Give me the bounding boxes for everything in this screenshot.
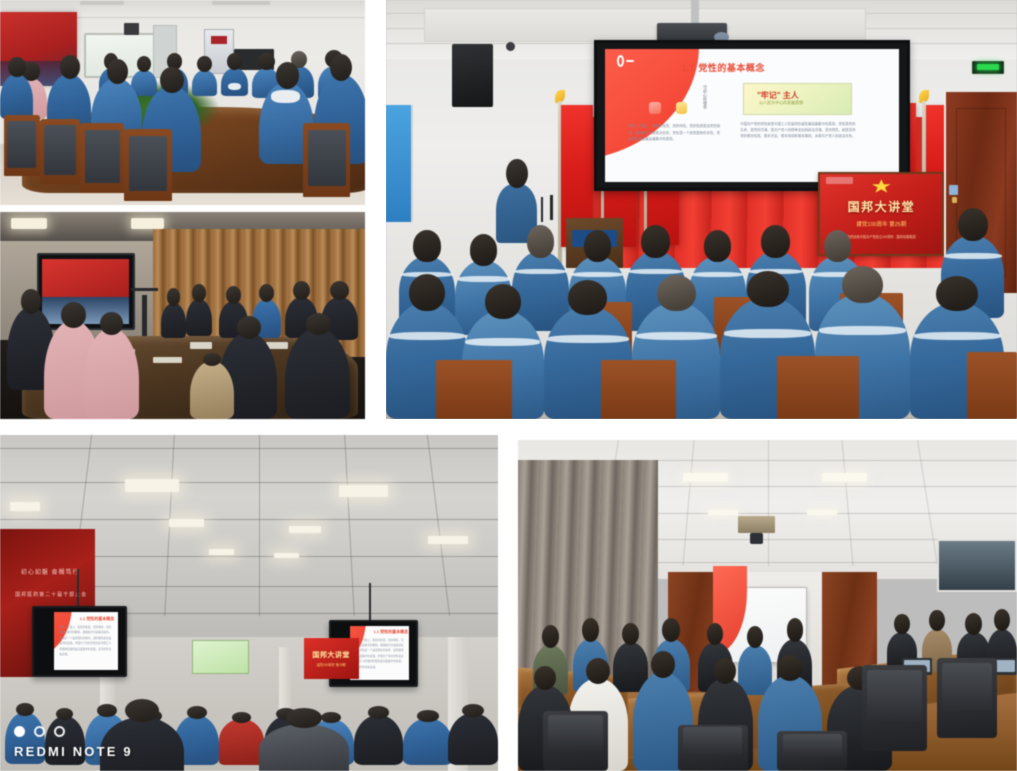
projector-mount (691, 0, 699, 25)
projector-lens (750, 533, 763, 544)
front-projection-screen (192, 640, 249, 674)
projection-screen: 1.1 党性的基本概念 守初心担使命 "牢记" 主人 以人民为中心的发展思想 党… (594, 40, 910, 191)
monitor-slide-body: 党性，字面上，指党的性质、党的特性。党的性质是由党的纲领、路线和方针政策决定的。… (354, 638, 404, 671)
party-emblem-icon (872, 179, 892, 193)
ceiling-light (683, 473, 728, 482)
ceiling-light (807, 510, 837, 516)
ceiling-recess (424, 8, 866, 42)
slide-image-card: "牢记" 主人 以人民为中心的发展思想 (743, 83, 852, 115)
audience-member-foreground (259, 724, 349, 771)
chair (436, 360, 512, 419)
photo-tile-meeting-roundtable[interactable] (0, 0, 365, 205)
banner-subtitle: 建党100周年 第25期 (828, 220, 936, 228)
tv-slide (42, 259, 129, 297)
hanging-monitor: 1.1 党性的基本概念 党性，字面上，指党的性质、党的特性。党的性质是由党的纲领… (32, 606, 127, 677)
ceiling-light (822, 473, 867, 482)
scene-lecture-hall: 1.1 党性的基本概念 守初心担使命 "牢记" 主人 以人民为中心的发展思想 党… (386, 0, 1017, 419)
chair (124, 129, 171, 201)
banner-title: 国邦大讲堂 (828, 198, 936, 215)
person (190, 361, 234, 419)
watermark-brand-text: REDMI NOTE 9 (14, 744, 133, 759)
camera-watermark: REDMI NOTE 9 (14, 726, 133, 759)
ceiling-light (169, 519, 204, 527)
security-camera (506, 42, 515, 51)
ceiling-light (125, 479, 180, 492)
chair (80, 123, 124, 193)
ceiling-light (289, 526, 321, 533)
scene-meeting-roundtable (0, 0, 365, 205)
chair (40, 119, 80, 185)
page-dot[interactable] (34, 726, 45, 737)
office-chair (543, 711, 608, 771)
person (0, 74, 33, 119)
photo-tile-big-hall-screens[interactable]: 初心如磐 奋楫笃行 国邦医药第二十届干部大会 1.1 党性的基本概念 党性，字面… (0, 435, 498, 771)
chair (4, 115, 41, 177)
slide-icon-b (676, 102, 688, 114)
banner-logo-icon (826, 177, 853, 184)
scene-conference-tv (0, 212, 365, 419)
photo-collage: 1.1 党性的基本概念 守初心担使命 "牢记" 主人 以人民为中心的发展思想 党… (0, 0, 1017, 771)
slide-card-subtitle: 以人民为中心的发展思想 (759, 100, 803, 106)
photo-tile-longtable-room[interactable] (518, 440, 1017, 771)
slide-vertical-text: 守初心担使命 (702, 85, 708, 109)
photo-tile-conference-tv[interactable] (0, 212, 365, 419)
chair (601, 360, 677, 419)
photo-tile-lecture-hall-flags[interactable]: 1.1 党性的基本概念 守初心担使命 "牢记" 主人 以人民为中心的发展思想 党… (386, 0, 1017, 419)
monitor-slide-title: 1.1 党性的基本概念 (80, 616, 115, 622)
banner-subtitle: 建党100周年 第25期 (317, 662, 346, 667)
ceiling-projector (738, 516, 775, 533)
window (386, 105, 413, 222)
person (161, 303, 187, 338)
ceiling-light (209, 549, 234, 555)
page-indicator-dots (14, 726, 133, 737)
slide-body-left: 党性，字面上，指党的性质、党的特性。党的性质是由党的纲领、路线和方针政策决定的，… (628, 123, 722, 142)
person (192, 70, 218, 97)
speaker-box (452, 44, 493, 107)
monitor-slide-body: 党性，字面上，指党的性质、党的特性。党的性质是由党的纲领、路线和方针政策决定的。… (59, 625, 112, 658)
exit-icon (977, 64, 1000, 70)
page-dot-active[interactable] (14, 726, 25, 737)
camera-tripod (142, 295, 146, 341)
office-chair (937, 658, 997, 737)
ceiling-light (339, 485, 389, 497)
chair (967, 352, 1017, 419)
audience-member (403, 718, 453, 765)
brand-mark-icon (617, 55, 635, 67)
mural-line-1: 初心如磐 奋楫笃行 (21, 568, 80, 579)
ceiling-light (428, 536, 468, 544)
chair (777, 356, 859, 419)
scene-longtable-room (518, 440, 1017, 771)
ceiling-light (10, 502, 40, 511)
interior-window (937, 539, 1017, 592)
event-banner: 国邦大讲堂 建党100周年 第25期 (304, 638, 359, 678)
office-chair (862, 665, 927, 751)
audience-member (219, 719, 264, 765)
monitor-slide-title: 1.1 党性的基本概念 (373, 629, 408, 635)
ceiling-light (708, 510, 738, 516)
slide-icon-a (649, 102, 661, 114)
speaker-box (124, 23, 139, 35)
slide-body-right: 中国共产党的党性就是中国工人阶级的阶级性最高最集中的表现。党性是党的生命，是党的… (740, 121, 858, 140)
slide-title: 1.1 党性的基本概念 (681, 61, 863, 74)
presentation-slide: 1.1 党性的基本概念 守初心担使命 "牢记" 主人 以人民为中心的发展思想 党… (605, 49, 899, 182)
scene-big-hall: 初心如磐 奋楫笃行 国邦医药第二十届干部大会 1.1 党性的基本概念 党性，字面… (0, 435, 498, 771)
person (84, 328, 139, 419)
page-dot[interactable] (54, 726, 65, 737)
audience-member (448, 713, 498, 765)
banner-title: 国邦大讲堂 (312, 650, 350, 660)
audience-member (354, 715, 404, 765)
office-chair (678, 725, 748, 771)
ceiling-light (274, 553, 299, 558)
chair (303, 123, 350, 197)
monitor-slide: 1.1 党性的基本概念 党性，字面上，指党的性质、党的特性。党的性质是由党的纲领… (54, 612, 117, 669)
emergency-exit-sign (972, 61, 1005, 74)
office-chair (777, 731, 847, 771)
person (221, 68, 248, 97)
person (186, 299, 212, 336)
